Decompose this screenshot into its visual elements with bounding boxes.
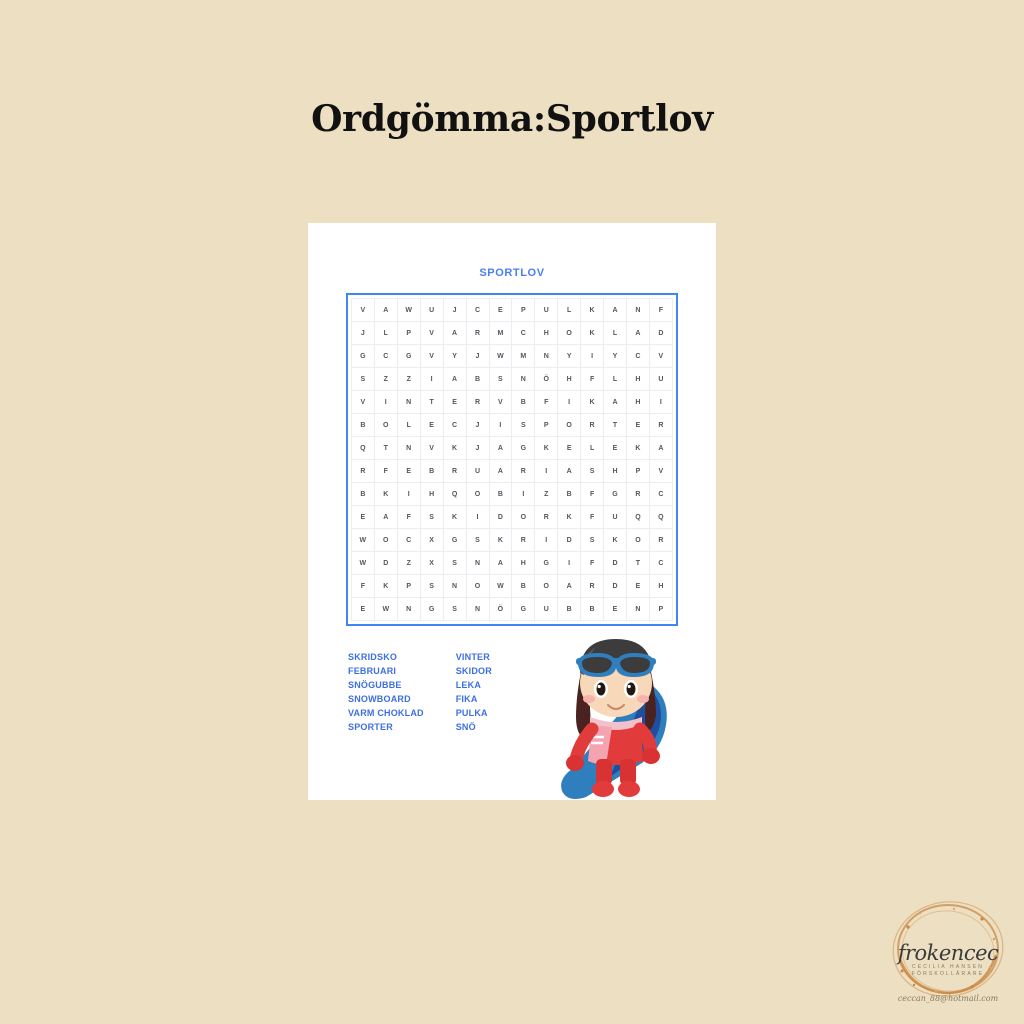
grid-cell[interactable]: V <box>352 299 375 322</box>
grid-cell[interactable]: A <box>489 437 512 460</box>
grid-cell[interactable]: S <box>581 529 604 552</box>
grid-cell[interactable]: W <box>374 598 397 621</box>
grid-cell[interactable]: S <box>466 529 489 552</box>
grid-cell[interactable]: P <box>397 322 420 345</box>
grid-cell[interactable]: F <box>352 575 375 598</box>
grid-cell[interactable]: L <box>604 368 627 391</box>
word-list-item: SKRIDSKO <box>348 651 424 663</box>
grid-cell[interactable]: Q <box>627 506 650 529</box>
grid-cell[interactable]: L <box>397 414 420 437</box>
grid-cell[interactable]: S <box>420 575 443 598</box>
grid-cell[interactable]: O <box>466 483 489 506</box>
grid-cell[interactable]: R <box>466 322 489 345</box>
grid-cell[interactable]: N <box>627 299 650 322</box>
boot-left <box>592 781 614 797</box>
grid-cell[interactable]: Q <box>352 437 375 460</box>
word-search-table[interactable]: VAWUJCEPULKANFJLPVARMCHOKLADGCGVYJWMNYIY… <box>351 298 673 621</box>
grid-cell[interactable]: Z <box>397 552 420 575</box>
grid-cell[interactable]: C <box>397 529 420 552</box>
grid-cell[interactable]: B <box>512 391 535 414</box>
word-list-column-2: VINTERSKIDORLEKAFIKAPULKASNÖ <box>456 651 492 733</box>
grid-cell[interactable]: R <box>443 460 466 483</box>
grid-cell[interactable]: G <box>604 483 627 506</box>
grid-cell[interactable]: C <box>512 322 535 345</box>
grid-cell[interactable]: K <box>581 299 604 322</box>
grid-row: GCGVYJWMNYIYCV <box>352 345 673 368</box>
word-list-item: VARM CHOKLAD <box>348 707 424 719</box>
eye-glint-right <box>628 685 631 688</box>
grid-cell[interactable]: R <box>512 529 535 552</box>
grid-cell[interactable]: K <box>443 437 466 460</box>
grid-cell[interactable]: C <box>466 299 489 322</box>
grid-cell[interactable]: A <box>374 299 397 322</box>
grid-cell[interactable]: E <box>420 414 443 437</box>
grid-cell[interactable]: N <box>443 575 466 598</box>
grid-cell[interactable]: O <box>374 529 397 552</box>
grid-cell[interactable]: R <box>649 414 672 437</box>
grid-cell[interactable]: H <box>558 368 581 391</box>
grid-cell[interactable]: K <box>581 322 604 345</box>
grid-cell[interactable]: I <box>420 368 443 391</box>
grid-cell[interactable]: N <box>627 598 650 621</box>
grid-cell[interactable]: Y <box>558 345 581 368</box>
grid-cell[interactable]: A <box>627 322 650 345</box>
grid-cell[interactable]: Y <box>604 345 627 368</box>
grid-cell[interactable]: D <box>374 552 397 575</box>
grid-cell[interactable]: D <box>604 575 627 598</box>
grid-cell[interactable]: H <box>627 391 650 414</box>
grid-cell[interactable]: U <box>420 299 443 322</box>
grid-cell[interactable]: R <box>627 483 650 506</box>
grid-cell[interactable]: J <box>466 437 489 460</box>
grid-cell[interactable]: I <box>581 345 604 368</box>
grid-cell[interactable]: F <box>649 299 672 322</box>
grid-cell[interactable]: I <box>512 483 535 506</box>
grid-row: BOLECJISPORTER <box>352 414 673 437</box>
grid-cell[interactable]: K <box>374 575 397 598</box>
grid-cell[interactable]: M <box>512 345 535 368</box>
grid-cell[interactable]: B <box>420 460 443 483</box>
grid-row: FKPSNOWBOARDEH <box>352 575 673 598</box>
grid-cell[interactable]: Q <box>649 506 672 529</box>
grid-cell[interactable]: S <box>443 552 466 575</box>
cheek-left <box>583 695 595 703</box>
grid-cell[interactable]: K <box>535 437 558 460</box>
mitten-right <box>642 748 660 764</box>
grid-cell[interactable]: A <box>443 322 466 345</box>
word-list-item: SNÖGUBBE <box>348 679 424 691</box>
grid-cell[interactable]: A <box>558 460 581 483</box>
grid-row: SZZIABSNÖHFLHU <box>352 368 673 391</box>
grid-cell[interactable]: O <box>512 506 535 529</box>
grid-cell[interactable]: P <box>627 460 650 483</box>
grid-cell[interactable]: H <box>649 575 672 598</box>
grid-cell[interactable]: E <box>352 506 375 529</box>
grid-cell[interactable]: I <box>558 552 581 575</box>
grid-cell[interactable]: D <box>489 506 512 529</box>
grid-cell[interactable]: Y <box>443 345 466 368</box>
logo-email: ceccan_88@hotmail.com <box>884 994 1012 1003</box>
grid-cell[interactable]: K <box>581 391 604 414</box>
grid-cell[interactable]: J <box>352 322 375 345</box>
grid-cell[interactable]: S <box>352 368 375 391</box>
grid-cell[interactable]: D <box>604 552 627 575</box>
grid-row: BKIHQOBIZBFGRC <box>352 483 673 506</box>
grid-cell[interactable]: E <box>627 414 650 437</box>
grid-row: WOCXGSKRIDSKOR <box>352 529 673 552</box>
grid-cell[interactable]: L <box>374 322 397 345</box>
grid-cell[interactable]: R <box>512 460 535 483</box>
grid-cell[interactable]: M <box>489 322 512 345</box>
grid-cell[interactable]: C <box>374 345 397 368</box>
grid-cell[interactable]: C <box>443 414 466 437</box>
grid-cell[interactable]: S <box>581 460 604 483</box>
word-list-item: FEBRUARI <box>348 665 424 677</box>
grid-cell[interactable]: S <box>443 598 466 621</box>
grid-cell[interactable]: E <box>352 598 375 621</box>
grid-cell[interactable]: P <box>649 598 672 621</box>
grid-cell[interactable]: F <box>581 368 604 391</box>
grid-cell[interactable]: N <box>535 345 558 368</box>
grid-cell[interactable]: P <box>397 575 420 598</box>
grid-cell[interactable]: L <box>581 437 604 460</box>
grid-cell[interactable]: N <box>466 552 489 575</box>
grid-cell[interactable]: I <box>649 391 672 414</box>
grid-cell[interactable]: W <box>489 575 512 598</box>
grid-cell[interactable]: P <box>512 299 535 322</box>
grid-cell[interactable]: O <box>627 529 650 552</box>
grid-cell[interactable]: K <box>558 506 581 529</box>
cheek-right <box>637 695 649 703</box>
grid-cell[interactable]: L <box>558 299 581 322</box>
grid-cell[interactable]: E <box>604 598 627 621</box>
grid-cell[interactable]: S <box>489 368 512 391</box>
grid-cell[interactable]: X <box>420 529 443 552</box>
pupil-left <box>597 683 606 696</box>
grid-cell[interactable]: V <box>420 345 443 368</box>
grid-cell[interactable]: E <box>604 437 627 460</box>
grid-cell[interactable]: K <box>374 483 397 506</box>
grid-row: VAWUJCEPULKANF <box>352 299 673 322</box>
grid-cell[interactable]: Ö <box>535 368 558 391</box>
grid-cell[interactable]: H <box>535 322 558 345</box>
grid-cell[interactable]: D <box>649 322 672 345</box>
grid-cell[interactable]: B <box>489 483 512 506</box>
grid-cell[interactable]: N <box>397 437 420 460</box>
grid-cell[interactable]: R <box>352 460 375 483</box>
grid-cell[interactable]: K <box>489 529 512 552</box>
page-title: Ordgömma:Sportlov <box>0 98 1024 140</box>
grid-cell[interactable]: U <box>649 368 672 391</box>
logo-watermark: frokencec CECILIA HANSEN FÖRSKOLLÄRARE c… <box>884 893 1012 1017</box>
grid-cell[interactable]: H <box>420 483 443 506</box>
grid-cell[interactable]: T <box>374 437 397 460</box>
grid-cell[interactable]: F <box>397 506 420 529</box>
grid-cell[interactable]: O <box>374 414 397 437</box>
grid-cell[interactable]: G <box>512 598 535 621</box>
grid-cell[interactable]: B <box>581 598 604 621</box>
grid-cell[interactable]: P <box>535 414 558 437</box>
grid-cell[interactable]: V <box>420 322 443 345</box>
logo-subtitle-role: FÖRSKOLLÄRARE <box>884 971 1012 977</box>
poster-canvas: Ordgömma:Sportlov SPORTLOV VAWUJCEPULKAN… <box>0 0 1024 1024</box>
word-list-item: SKIDOR <box>456 665 492 677</box>
logo-subtitle-name: CECILIA HANSEN <box>884 964 1012 970</box>
grid-cell[interactable]: B <box>558 483 581 506</box>
grid-cell[interactable]: Z <box>535 483 558 506</box>
grid-row: VINTERVBFIKAHI <box>352 391 673 414</box>
grid-cell[interactable]: A <box>604 299 627 322</box>
grid-cell[interactable]: F <box>581 506 604 529</box>
grid-cell[interactable]: F <box>581 552 604 575</box>
grid-row: EAFSKIDORKFUQQ <box>352 506 673 529</box>
girl-with-snowboard-illustration <box>546 625 686 800</box>
grid-cell[interactable]: K <box>627 437 650 460</box>
grid-cell[interactable]: L <box>604 322 627 345</box>
grid-cell[interactable]: K <box>604 529 627 552</box>
grid-cell[interactable]: U <box>604 506 627 529</box>
word-list-column-1: SKRIDSKOFEBRUARISNÖGUBBESNOWBOARDVARM CH… <box>348 651 424 733</box>
grid-cell[interactable]: S <box>420 506 443 529</box>
grid-cell[interactable]: U <box>535 299 558 322</box>
grid-cell[interactable]: N <box>397 598 420 621</box>
grid-cell[interactable]: A <box>443 368 466 391</box>
grid-cell[interactable]: R <box>535 506 558 529</box>
grid-cell[interactable]: R <box>581 575 604 598</box>
grid-cell[interactable]: O <box>558 322 581 345</box>
grid-cell[interactable]: V <box>352 391 375 414</box>
grid-cell[interactable]: I <box>374 391 397 414</box>
boot-right <box>618 781 640 797</box>
grid-cell[interactable]: F <box>581 483 604 506</box>
grid-cell[interactable]: R <box>649 529 672 552</box>
grid-cell[interactable]: A <box>604 391 627 414</box>
grid-cell[interactable]: T <box>627 552 650 575</box>
grid-cell[interactable]: G <box>397 345 420 368</box>
word-list-item: FIKA <box>456 693 492 705</box>
word-list-item: SNOWBOARD <box>348 693 424 705</box>
grid-cell[interactable]: A <box>649 437 672 460</box>
grid-cell[interactable]: V <box>489 391 512 414</box>
grid-row: JLPVARMCHOKLAD <box>352 322 673 345</box>
grid-cell[interactable]: V <box>649 345 672 368</box>
grid-cell[interactable]: I <box>466 506 489 529</box>
grid-cell[interactable]: B <box>466 368 489 391</box>
grid-cell[interactable]: G <box>535 552 558 575</box>
grid-cell[interactable]: A <box>374 506 397 529</box>
grid-cell[interactable]: T <box>604 414 627 437</box>
grid-cell[interactable]: K <box>443 506 466 529</box>
grid-cell[interactable]: B <box>352 483 375 506</box>
grid-cell[interactable]: C <box>649 552 672 575</box>
grid-cell[interactable]: V <box>420 437 443 460</box>
grid-cell[interactable]: C <box>627 345 650 368</box>
grid-cell[interactable]: O <box>535 575 558 598</box>
grid-cell[interactable]: A <box>489 460 512 483</box>
grid-cell[interactable]: D <box>558 529 581 552</box>
grid-cell[interactable]: T <box>420 391 443 414</box>
grid-cell[interactable]: B <box>558 598 581 621</box>
grid-cell[interactable]: C <box>649 483 672 506</box>
grid-cell[interactable]: F <box>535 391 558 414</box>
grid-cell[interactable]: Ö <box>489 598 512 621</box>
grid-cell[interactable]: V <box>649 460 672 483</box>
word-list-item: LEKA <box>456 679 492 691</box>
grid-cell[interactable]: H <box>627 368 650 391</box>
grid-cell[interactable]: O <box>558 414 581 437</box>
grid-cell[interactable]: G <box>420 598 443 621</box>
grid-cell[interactable]: U <box>535 598 558 621</box>
grid-cell[interactable]: R <box>581 414 604 437</box>
grid-cell[interactable]: E <box>489 299 512 322</box>
grid-cell[interactable]: I <box>535 529 558 552</box>
mitten-left <box>566 755 584 771</box>
word-search-grid[interactable]: VAWUJCEPULKANFJLPVARMCHOKLADGCGVYJWMNYIY… <box>346 293 678 626</box>
grid-cell[interactable]: I <box>535 460 558 483</box>
grid-cell[interactable]: J <box>443 299 466 322</box>
grid-cell[interactable]: Z <box>397 368 420 391</box>
grid-cell[interactable]: N <box>397 391 420 414</box>
grid-row: RFEBRUARIASHPV <box>352 460 673 483</box>
grid-cell[interactable]: I <box>489 414 512 437</box>
grid-cell[interactable]: W <box>352 529 375 552</box>
word-list: SKRIDSKOFEBRUARISNÖGUBBESNOWBOARDVARM CH… <box>348 651 568 733</box>
grid-cell[interactable]: J <box>466 345 489 368</box>
grid-row: WDZXSNAHGIFDTC <box>352 552 673 575</box>
grid-cell[interactable]: Q <box>443 483 466 506</box>
grid-cell[interactable]: N <box>512 368 535 391</box>
word-list-item: VINTER <box>456 651 492 663</box>
eye-glint-left <box>598 685 601 688</box>
grid-cell[interactable]: J <box>466 414 489 437</box>
grid-cell[interactable]: O <box>466 575 489 598</box>
pupil-right <box>627 683 636 696</box>
grid-cell[interactable]: U <box>466 460 489 483</box>
grid-row: QTNVKJAGKELEKA <box>352 437 673 460</box>
grid-cell[interactable]: R <box>466 391 489 414</box>
grid-cell[interactable]: G <box>352 345 375 368</box>
grid-cell[interactable]: B <box>512 575 535 598</box>
grid-cell[interactable]: I <box>558 391 581 414</box>
grid-cell[interactable]: Z <box>374 368 397 391</box>
grid-cell[interactable]: A <box>558 575 581 598</box>
grid-cell[interactable]: A <box>489 552 512 575</box>
word-list-item: SPORTER <box>348 721 424 733</box>
worksheet-page: SPORTLOV VAWUJCEPULKANFJLPVARMCHOKLADGCG… <box>308 223 716 800</box>
grid-cell[interactable]: F <box>374 460 397 483</box>
grid-cell[interactable]: N <box>466 598 489 621</box>
grid-cell[interactable]: X <box>420 552 443 575</box>
grid-row: EWNGSNÖGUBBENP <box>352 598 673 621</box>
word-search-body: VAWUJCEPULKANFJLPVARMCHOKLADGCGVYJWMNYIY… <box>352 299 673 621</box>
grid-cell[interactable]: E <box>397 460 420 483</box>
grid-cell[interactable]: W <box>397 299 420 322</box>
grid-cell[interactable]: W <box>352 552 375 575</box>
logo-name: frokencec <box>884 941 1012 965</box>
grid-cell[interactable]: G <box>443 529 466 552</box>
grid-cell[interactable]: E <box>443 391 466 414</box>
grid-cell[interactable]: H <box>604 460 627 483</box>
grid-cell[interactable]: I <box>397 483 420 506</box>
grid-cell[interactable]: S <box>512 414 535 437</box>
word-list-item: PULKA <box>456 707 492 719</box>
grid-cell[interactable]: B <box>352 414 375 437</box>
grid-cell[interactable]: G <box>512 437 535 460</box>
word-list-item: SNÖ <box>456 721 492 733</box>
grid-cell[interactable]: E <box>558 437 581 460</box>
worksheet-heading: SPORTLOV <box>308 267 716 279</box>
grid-cell[interactable]: W <box>489 345 512 368</box>
grid-cell[interactable]: H <box>512 552 535 575</box>
grid-cell[interactable]: E <box>627 575 650 598</box>
